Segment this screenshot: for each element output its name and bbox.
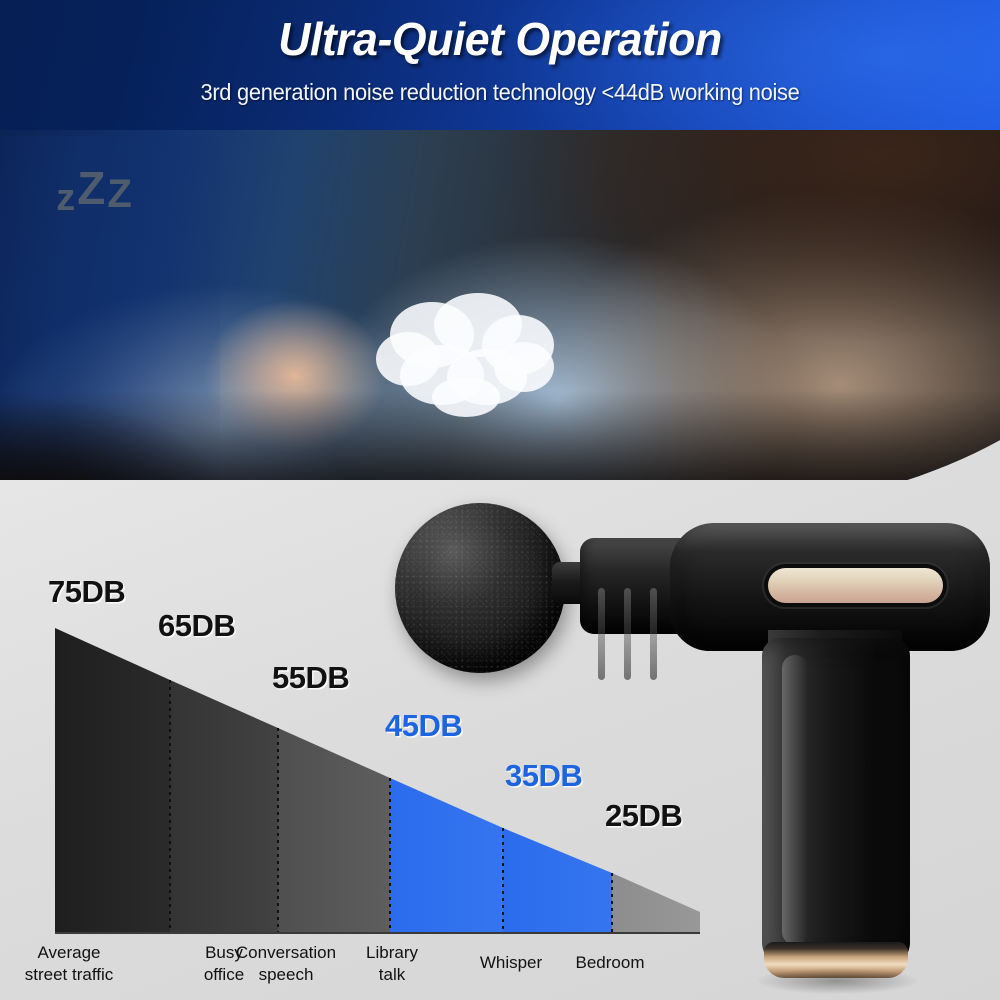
gun-gold-accent-strip (768, 568, 943, 603)
gun-handle-highlight (782, 655, 808, 945)
db-label-1: 65DB (158, 608, 235, 644)
gun-collar-ring-2 (624, 588, 631, 680)
bar-segment-1 (170, 680, 278, 932)
bar-segment-0 (55, 628, 170, 932)
db-label-0: 75DB (48, 574, 125, 610)
category-label-0-line1: Average (8, 942, 130, 964)
gun-head-foam-texture (395, 503, 565, 673)
db-label-2: 55DB (272, 660, 349, 696)
gun-massage-head (395, 503, 565, 673)
massage-gun-product-image (370, 490, 1000, 1000)
product-infographic: Ultra-Quiet Operation 3rd generation noi… (0, 0, 1000, 1000)
header-banner: Ultra-Quiet Operation 3rd generation noi… (0, 0, 1000, 132)
category-label-2-line2: speech (222, 964, 350, 986)
zzz-thought-bubble-icon (372, 293, 560, 428)
category-label-2: Conversation speech (222, 942, 350, 986)
gun-drop-shadow (756, 968, 918, 994)
category-label-0: Average street traffic (8, 942, 130, 986)
category-label-0-line2: street traffic (8, 964, 130, 986)
category-label-2-line1: Conversation (222, 942, 350, 964)
gun-collar-ring-1 (598, 588, 605, 680)
page-title: Ultra-Quiet Operation (15, 12, 985, 66)
gun-collar-ring-3 (650, 588, 657, 680)
page-subtitle: 3rd generation noise reduction technolog… (25, 79, 975, 106)
hero-photo: z Z Z (0, 130, 1000, 540)
